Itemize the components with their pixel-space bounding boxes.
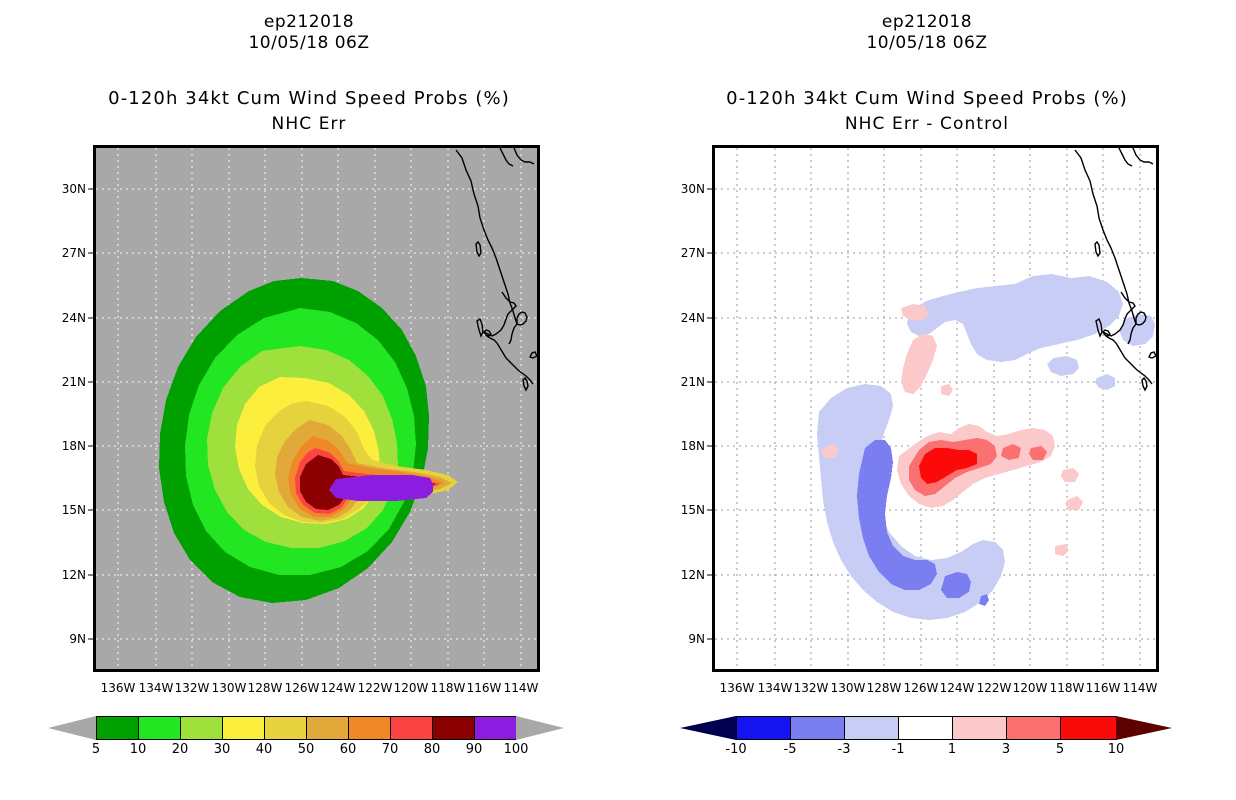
- colorbar-swatch: [474, 716, 516, 740]
- colorbar-swatch: [898, 716, 952, 740]
- contour-plot-right: [715, 148, 1156, 669]
- y-tick: [707, 382, 712, 383]
- colorbar-tick-label: -10: [725, 742, 746, 757]
- y-tick: [707, 575, 712, 576]
- y-axis-label: 24N: [681, 311, 705, 325]
- colorbar-swatch: [348, 716, 390, 740]
- y-tick: [88, 446, 93, 447]
- probability-colorbar[interactable]: 5 10 20 30 40 50 60 70 80 90 100: [48, 716, 564, 762]
- y-axis-label: 21N: [62, 375, 86, 389]
- valid-time-left: 10/05/18 06Z: [0, 33, 618, 53]
- coastline-right: [1075, 148, 1156, 390]
- colorbar-tick-label: 5: [1056, 742, 1064, 757]
- colorbar-tick-label: 40: [256, 742, 273, 757]
- colorbar-tick-label: -1: [892, 742, 905, 757]
- y-axis-label: 12N: [681, 568, 705, 582]
- colorbar-tail-high: [516, 716, 564, 740]
- colorbar-swatch: [1006, 716, 1060, 740]
- colorbar-swatch: [222, 716, 264, 740]
- y-axis-label: 27N: [62, 246, 86, 260]
- colorbar-swatch: [138, 716, 180, 740]
- colorbar-swatch: [790, 716, 844, 740]
- x-axis-label: 120W: [394, 681, 429, 695]
- colorbar-tail-high: [1116, 716, 1172, 740]
- x-axis-label: 118W: [431, 681, 466, 695]
- y-axis-label: 15N: [62, 503, 86, 517]
- colorbar-tick-label: 50: [298, 742, 315, 757]
- colorbar-swatch: [844, 716, 898, 740]
- colorbar-tick-label: 10: [1108, 742, 1125, 757]
- colorbar-tick-label: 60: [340, 742, 357, 757]
- colorbar-tick-label: 5: [92, 742, 100, 757]
- y-tick: [88, 510, 93, 511]
- y-tick: [707, 253, 712, 254]
- x-axis-label: 136W: [101, 681, 136, 695]
- y-tick: [88, 575, 93, 576]
- colorbar-swatch: [432, 716, 474, 740]
- x-axis-label: 124W: [940, 681, 975, 695]
- x-axis-label: 126W: [285, 681, 320, 695]
- y-axis-label: 12N: [62, 568, 86, 582]
- x-axis-label: 122W: [358, 681, 393, 695]
- map-frame-left: [93, 145, 540, 672]
- x-axis-label: 114W: [1123, 681, 1158, 695]
- panel-left: ep212018 10/05/18 06Z 0-120h 34kt Cum Wi…: [0, 0, 618, 800]
- contour-plot-left: [96, 148, 537, 669]
- colorbar-tick-label: 90: [466, 742, 483, 757]
- x-axis-label: 130W: [831, 681, 866, 695]
- chart-title-left: 0-120h 34kt Cum Wind Speed Probs (%): [0, 88, 618, 109]
- y-tick: [88, 639, 93, 640]
- map-right: 30N 27N 24N 21N 18N 15N 12N 9N 136W 134W…: [712, 145, 1159, 672]
- y-tick: [707, 446, 712, 447]
- x-axis-label: 136W: [720, 681, 755, 695]
- x-axis-label: 118W: [1050, 681, 1085, 695]
- y-tick: [88, 382, 93, 383]
- colorbar-swatch: [736, 716, 790, 740]
- y-tick: [707, 510, 712, 511]
- colorbar-swatch: [180, 716, 222, 740]
- colorbar-tick-label: -3: [838, 742, 851, 757]
- x-axis-label: 126W: [904, 681, 939, 695]
- y-axis-label: 30N: [681, 182, 705, 196]
- colorbar-tail-low: [48, 716, 96, 740]
- colorbar-swatch: [1060, 716, 1116, 740]
- colorbar-tick-label: 10: [130, 742, 147, 757]
- storm-id-right: ep212018: [618, 12, 1236, 32]
- colorbar-tick-label: 30: [214, 742, 231, 757]
- coastline-left: [456, 148, 537, 390]
- y-axis-label: 21N: [681, 375, 705, 389]
- x-axis-label: 114W: [504, 681, 539, 695]
- map-left: 30N 27N 24N 21N 18N 15N 12N 9N 136W 134W: [93, 145, 540, 672]
- y-axis-label: 18N: [681, 439, 705, 453]
- colorbar-tick-label: 80: [424, 742, 441, 757]
- colorbar-tick-label: 70: [382, 742, 399, 757]
- x-axis-label: 120W: [1013, 681, 1048, 695]
- y-axis-label: 15N: [681, 503, 705, 517]
- colorbar-tick-label: 3: [1002, 742, 1010, 757]
- x-axis-label: 122W: [977, 681, 1012, 695]
- colorbar-swatch: [390, 716, 432, 740]
- y-tick: [707, 189, 712, 190]
- colorbar-swatch: [96, 716, 138, 740]
- x-axis-label: 116W: [1086, 681, 1121, 695]
- y-axis-label: 9N: [69, 632, 86, 646]
- x-axis-label: 134W: [139, 681, 174, 695]
- x-axis-label: 128W: [248, 681, 283, 695]
- x-axis-label: 128W: [867, 681, 902, 695]
- chart-subtitle-right: NHC Err - Control: [618, 114, 1236, 134]
- y-axis-label: 24N: [62, 311, 86, 325]
- y-tick: [88, 253, 93, 254]
- colorbar-tick-label: 1: [948, 742, 956, 757]
- colorbar-swatch: [952, 716, 1006, 740]
- x-axis-label: 134W: [758, 681, 793, 695]
- y-tick: [88, 318, 93, 319]
- x-axis-label: 132W: [175, 681, 210, 695]
- y-axis-label: 9N: [688, 632, 705, 646]
- y-axis-label: 27N: [681, 246, 705, 260]
- panel-right: ep212018 10/05/18 06Z 0-120h 34kt Cum Wi…: [618, 0, 1236, 800]
- x-axis-label: 116W: [467, 681, 502, 695]
- difference-colorbar[interactable]: -10 -5 -3 -1 1 3 5 10: [680, 716, 1172, 762]
- y-tick: [88, 189, 93, 190]
- contour-bands-left: [159, 278, 458, 603]
- colorbar-tick-label: 20: [172, 742, 189, 757]
- colorbar-swatch: [306, 716, 348, 740]
- map-frame-right: [712, 145, 1159, 672]
- chart-title-right: 0-120h 34kt Cum Wind Speed Probs (%): [618, 88, 1236, 109]
- y-tick: [707, 639, 712, 640]
- storm-id-left: ep212018: [0, 12, 618, 32]
- y-tick: [707, 318, 712, 319]
- difference-bands-right: [817, 274, 1155, 620]
- x-axis-label: 132W: [794, 681, 829, 695]
- y-axis-label: 30N: [62, 182, 86, 196]
- y-axis-label: 18N: [62, 439, 86, 453]
- valid-time-right: 10/05/18 06Z: [618, 33, 1236, 53]
- colorbar-swatch: [264, 716, 306, 740]
- colorbar-tail-low: [680, 716, 736, 740]
- colorbar-tick-label: 100: [504, 742, 529, 757]
- figure-root: ep212018 10/05/18 06Z 0-120h 34kt Cum Wi…: [0, 0, 1236, 800]
- chart-subtitle-left: NHC Err: [0, 114, 618, 134]
- colorbar-tick-label: -5: [784, 742, 797, 757]
- x-axis-label: 130W: [212, 681, 247, 695]
- x-axis-label: 124W: [321, 681, 356, 695]
